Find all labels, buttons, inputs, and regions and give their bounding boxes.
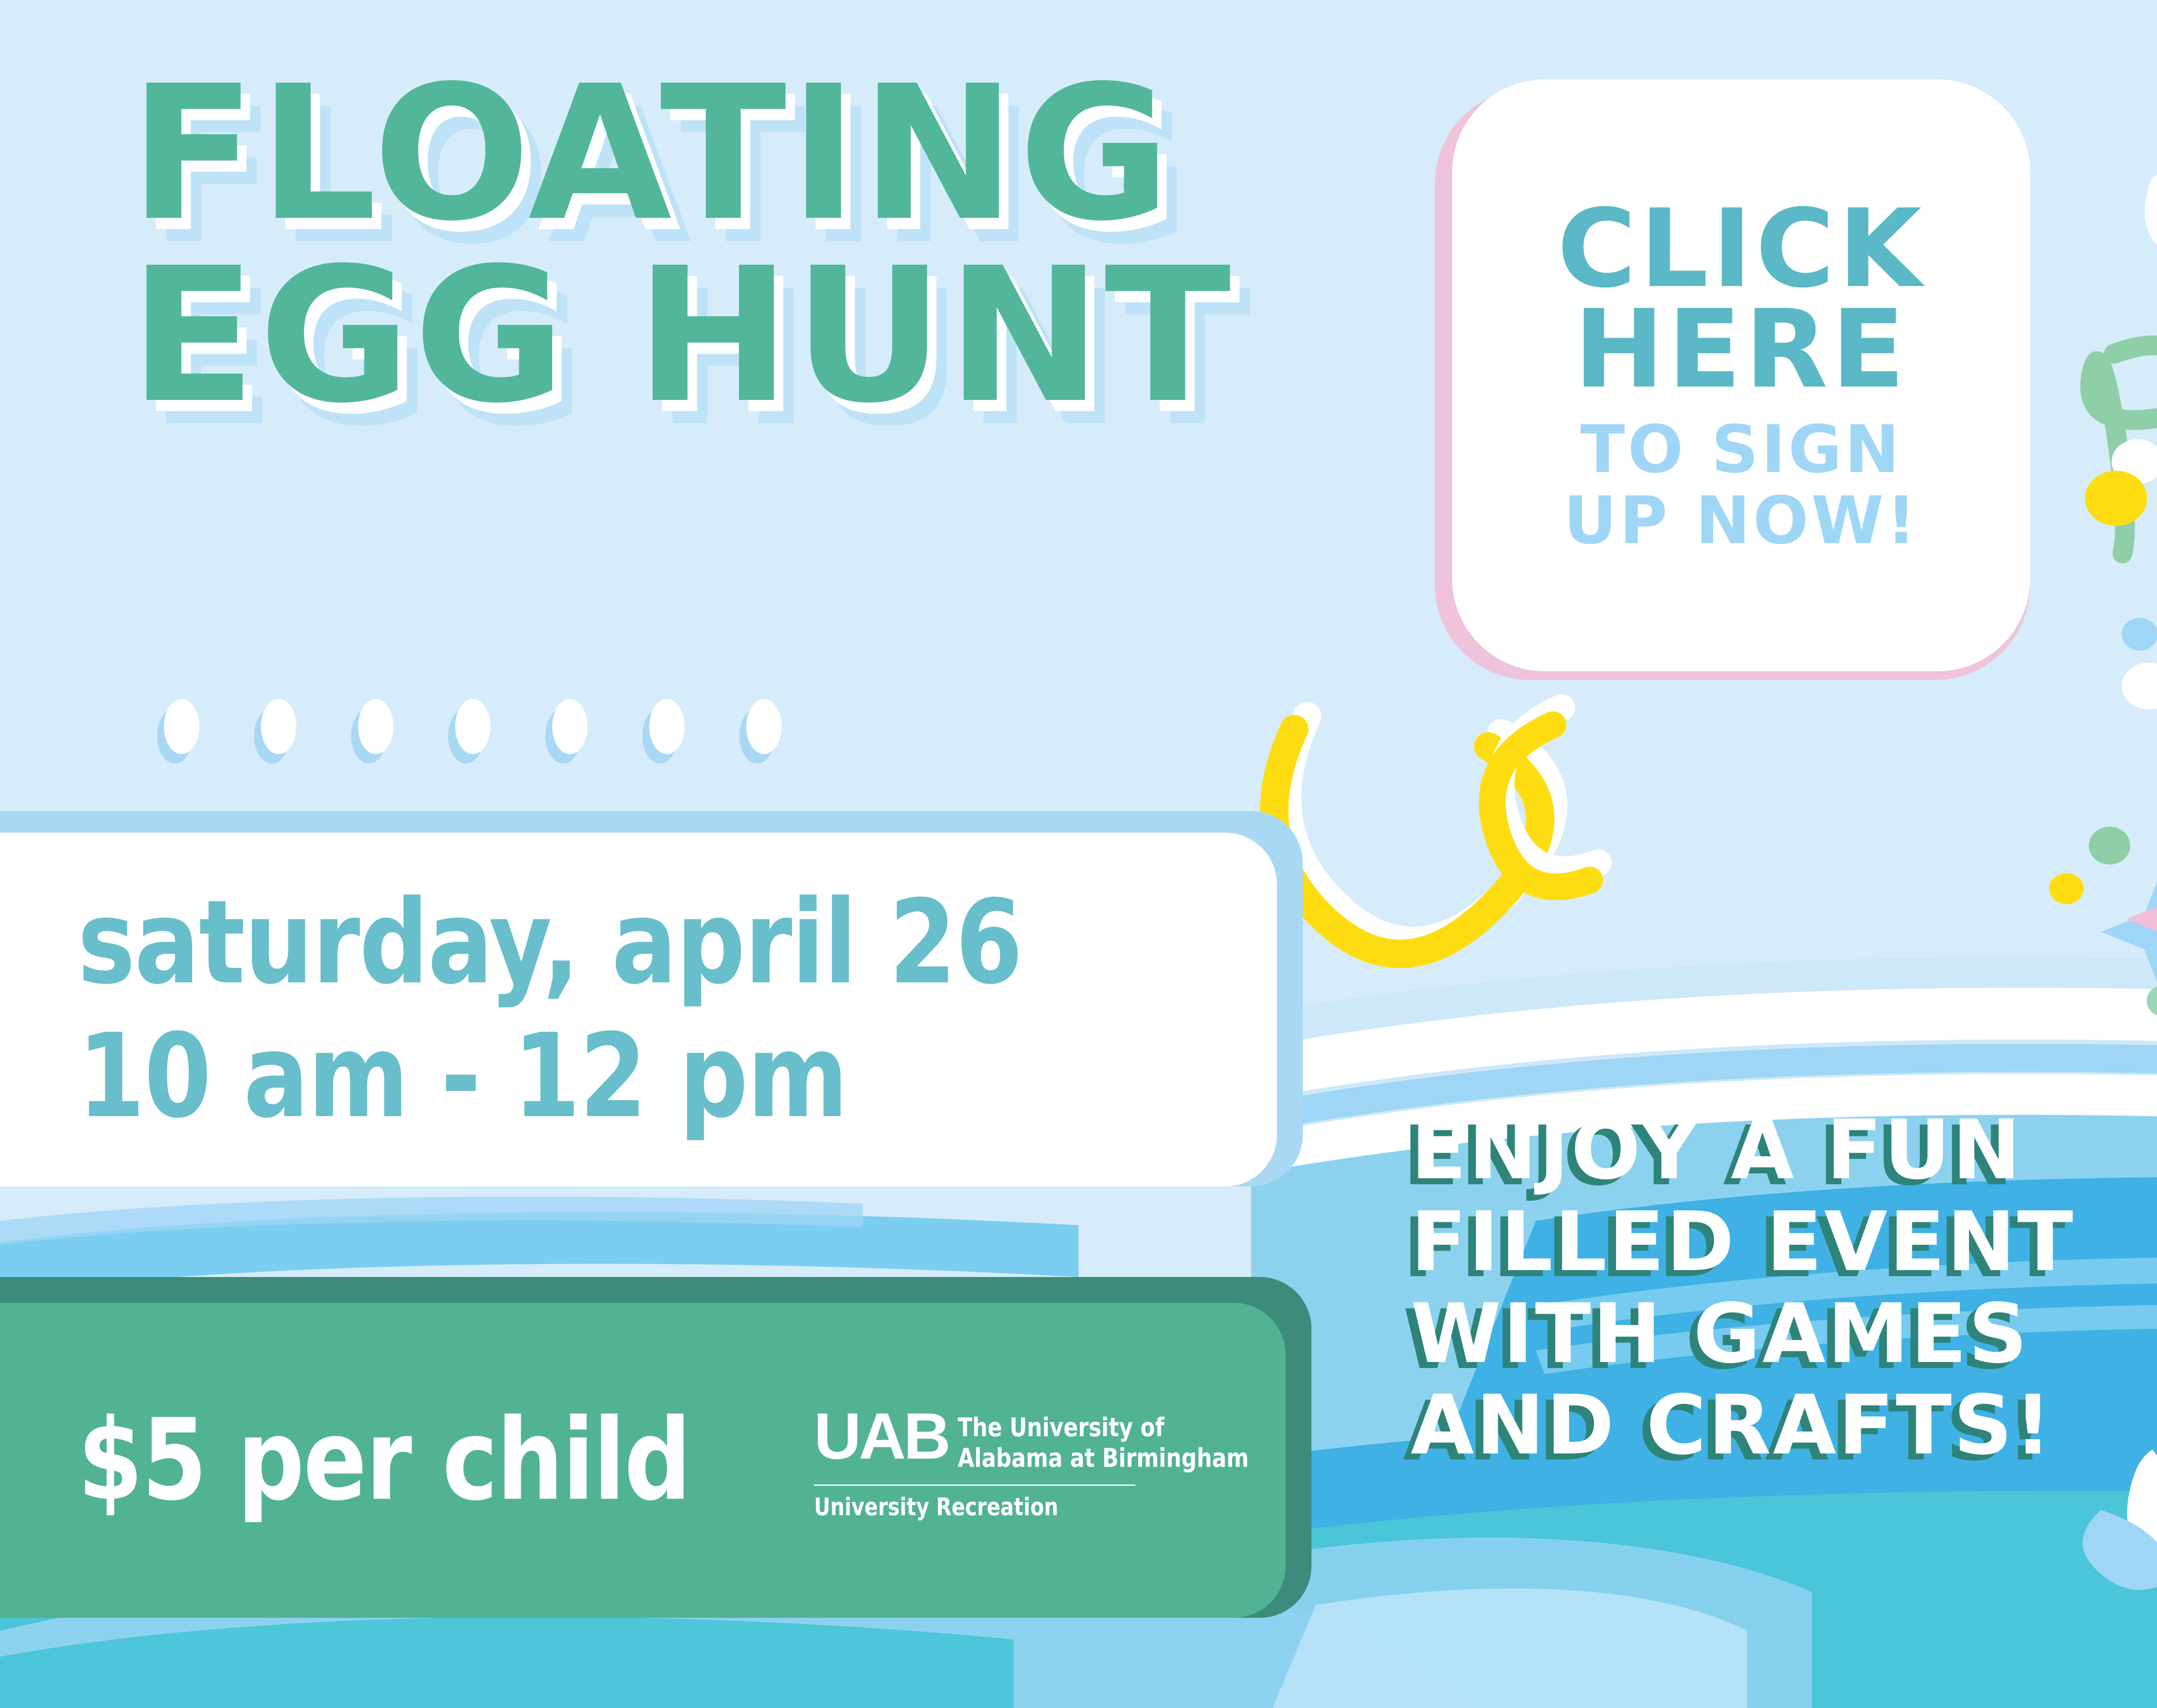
dot-5 (552, 699, 588, 754)
cta-line-4: UP NOW! (1563, 485, 1918, 556)
uab-logo: UAB The University of Alabama at Birming… (814, 1401, 1274, 1520)
dot-core (164, 699, 199, 754)
tagline-line-3: WITH GAMES (1411, 1288, 2075, 1380)
price-bar: $5 per child UAB The University of Alaba… (0, 1303, 1286, 1618)
decorative-dot-row (164, 699, 782, 754)
tagline-line-4: AND CRAFTS! (1411, 1380, 2075, 1472)
dot-core (552, 699, 588, 754)
event-tagline: ENJOY A FUN FILLED EVENT WITH GAMES AND … (1411, 1104, 2075, 1472)
tagline-line-1: ENJOY A FUN (1411, 1104, 2075, 1196)
dot-2 (261, 699, 296, 754)
event-time: 10 am - 12 pm (78, 1019, 1193, 1134)
title-line-1: FLOATING (129, 69, 1467, 240)
uab-department: University Recreation (814, 1495, 1237, 1519)
dot-6 (649, 699, 685, 754)
uab-logo-top: UAB The University of Alabama at Birming… (814, 1409, 1274, 1474)
event-date: saturday, april 26 (78, 885, 1193, 1000)
poster-canvas: FLOATING EGG HUNT CLICK HERE TO SIGN UP … (0, 0, 2157, 1708)
cta-card[interactable]: CLICK HERE TO SIGN UP NOW! (1452, 79, 2030, 671)
dot-4 (455, 699, 491, 754)
dot-core (261, 699, 296, 754)
poster-title: FLOATING EGG HUNT (129, 69, 1467, 421)
uab-divider (814, 1485, 1135, 1486)
dot-core (649, 699, 685, 754)
dot-7 (746, 699, 782, 754)
dot-core (746, 699, 782, 754)
dot-core (455, 699, 491, 754)
price-text: $5 per child (78, 1404, 690, 1516)
uab-name-line-2: Alabama at Birmingham (958, 1443, 1249, 1474)
uab-name-line-1: The University of (958, 1412, 1249, 1443)
cta-line-2: HERE (1574, 299, 1908, 400)
event-date-card: saturday, april 26 10 am - 12 pm (0, 833, 1277, 1186)
title-line-2: EGG HUNT (129, 251, 1467, 422)
dot-1 (164, 699, 199, 754)
sign-up-cta-button[interactable]: CLICK HERE TO SIGN UP NOW! (1435, 89, 2030, 680)
tagline-line-2: FILLED EVENT (1411, 1196, 2075, 1288)
dot-3 (358, 699, 393, 754)
cta-line-3: TO SIGN (1580, 414, 1902, 485)
uab-wordmark: UAB (814, 1409, 948, 1464)
cta-line-1: CLICK (1557, 199, 1925, 299)
uab-full-name: The University of Alabama at Birmingham (958, 1409, 1249, 1474)
dot-core (358, 699, 393, 754)
